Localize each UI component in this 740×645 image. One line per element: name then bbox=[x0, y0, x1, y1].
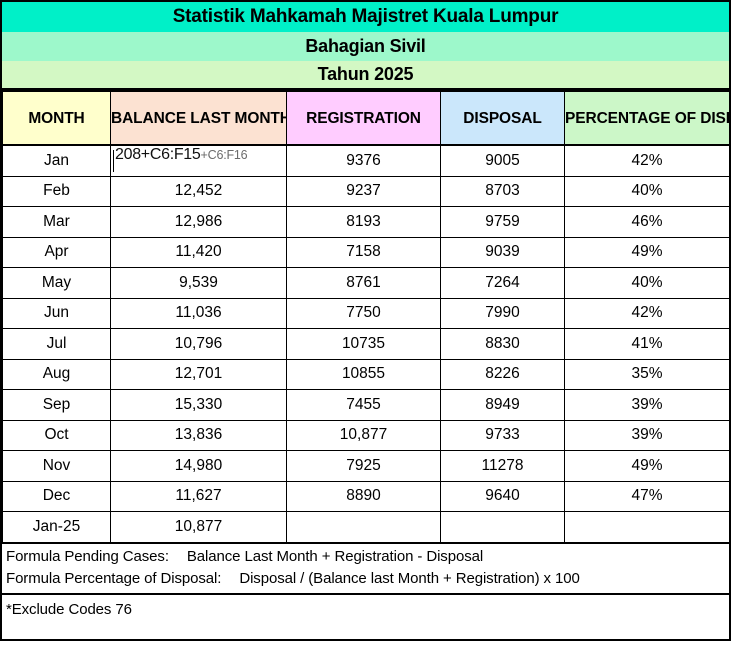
cell-disposal[interactable]: 7264 bbox=[441, 268, 565, 299]
cell-balance[interactable]: 11,420 bbox=[111, 237, 287, 268]
column-header-registration[interactable]: REGISTRATION bbox=[287, 91, 441, 145]
formula-committed-text: 208+C6:F15 bbox=[115, 146, 201, 164]
cell-percentage[interactable]: 39% bbox=[565, 420, 730, 451]
cell-month[interactable]: Feb bbox=[3, 176, 111, 207]
formula-notes-block: Formula Pending Cases:Balance Last Month… bbox=[2, 544, 729, 595]
table-body: Jan208+C6:F15+C6:F169376900542%Feb12,452… bbox=[3, 145, 730, 543]
table-row: Jul10,79610735883041% bbox=[3, 329, 730, 360]
cell-disposal[interactable]: 9640 bbox=[441, 481, 565, 512]
note-percentage-disposal-label: Formula Percentage of Disposal: bbox=[6, 570, 221, 587]
cell-month[interactable]: Oct bbox=[3, 420, 111, 451]
table-row: Feb12,4529237870340% bbox=[3, 176, 730, 207]
table-row: Jan-2510,877 bbox=[3, 512, 730, 543]
cell-balance[interactable]: 13,836 bbox=[111, 420, 287, 451]
cell-month[interactable]: Jun bbox=[3, 298, 111, 329]
table-row: Apr11,4207158903949% bbox=[3, 237, 730, 268]
column-header-disposal[interactable]: DISPOSAL bbox=[441, 91, 565, 145]
sheet-title-year: Tahun 2025 bbox=[2, 61, 729, 90]
column-header-balance[interactable]: BALANCE LAST MONTH bbox=[111, 91, 287, 145]
cell-percentage[interactable]: 46% bbox=[565, 207, 730, 238]
cell-disposal[interactable]: 9039 bbox=[441, 237, 565, 268]
formula-ghost-text: +C6:F16 bbox=[201, 148, 248, 162]
cell-percentage[interactable]: 42% bbox=[565, 145, 730, 176]
cell-registration[interactable]: 8890 bbox=[287, 481, 441, 512]
cell-disposal[interactable]: 11278 bbox=[441, 451, 565, 482]
exclude-note-block: *Exclude Codes 76 bbox=[2, 595, 729, 626]
cell-month[interactable]: May bbox=[3, 268, 111, 299]
table-row: Jun11,0367750799042% bbox=[3, 298, 730, 329]
cell-month[interactable]: Jan-25 bbox=[3, 512, 111, 543]
sheet-title-division: Bahagian Sivil bbox=[2, 32, 729, 61]
cell-disposal[interactable]: 9733 bbox=[441, 420, 565, 451]
cell-percentage[interactable]: 47% bbox=[565, 481, 730, 512]
cell-balance[interactable]: 12,701 bbox=[111, 359, 287, 390]
cell-percentage[interactable]: 40% bbox=[565, 268, 730, 299]
cell-percentage[interactable]: 42% bbox=[565, 298, 730, 329]
table-row: May9,5398761726440% bbox=[3, 268, 730, 299]
cell-percentage[interactable]: 40% bbox=[565, 176, 730, 207]
cell-balance[interactable]: 12,452 bbox=[111, 176, 287, 207]
cell-registration[interactable]: 8193 bbox=[287, 207, 441, 238]
text-caret bbox=[113, 150, 114, 172]
cell-balance[interactable]: 9,539 bbox=[111, 268, 287, 299]
table-header-row: MONTH BALANCE LAST MONTH REGISTRATION DI… bbox=[3, 91, 730, 145]
note-percentage-disposal: Formula Percentage of Disposal:Disposal … bbox=[6, 568, 729, 590]
cell-registration[interactable]: 7158 bbox=[287, 237, 441, 268]
cell-month[interactable]: Aug bbox=[3, 359, 111, 390]
table-row: Dec11,6278890964047% bbox=[3, 481, 730, 512]
cell-balance[interactable]: 11,627 bbox=[111, 481, 287, 512]
table-row: Sep15,3307455894939% bbox=[3, 390, 730, 421]
note-percentage-disposal-value: Disposal / (Balance last Month + Registr… bbox=[239, 570, 579, 587]
cell-registration[interactable]: 10735 bbox=[287, 329, 441, 360]
cell-month[interactable]: Sep bbox=[3, 390, 111, 421]
cell-month[interactable]: Jul bbox=[3, 329, 111, 360]
cell-balance[interactable]: 10,877 bbox=[111, 512, 287, 543]
cell-balance[interactable]: 11,036 bbox=[111, 298, 287, 329]
cell-disposal[interactable]: 7990 bbox=[441, 298, 565, 329]
cell-month[interactable]: Nov bbox=[3, 451, 111, 482]
cell-disposal[interactable] bbox=[441, 512, 565, 543]
cell-percentage[interactable]: 49% bbox=[565, 237, 730, 268]
cell-registration[interactable]: 8761 bbox=[287, 268, 441, 299]
cell-disposal[interactable]: 8226 bbox=[441, 359, 565, 390]
cell-registration[interactable]: 10855 bbox=[287, 359, 441, 390]
cell-registration[interactable]: 7925 bbox=[287, 451, 441, 482]
cell-month[interactable]: Apr bbox=[3, 237, 111, 268]
note-pending-cases-value: Balance Last Month + Registration - Disp… bbox=[187, 548, 483, 565]
note-exclude-codes: *Exclude Codes 76 bbox=[6, 599, 729, 621]
cell-disposal[interactable]: 8703 bbox=[441, 176, 565, 207]
table-row: Jan208+C6:F15+C6:F169376900542% bbox=[3, 145, 730, 176]
column-header-month[interactable]: MONTH bbox=[3, 91, 111, 145]
column-header-percentage[interactable]: PERCENTAGE OF DISPOSAL (%) bbox=[565, 91, 730, 145]
cell-percentage[interactable] bbox=[565, 512, 730, 543]
cell-percentage[interactable]: 41% bbox=[565, 329, 730, 360]
cell-registration[interactable] bbox=[287, 512, 441, 543]
note-pending-cases: Formula Pending Cases:Balance Last Month… bbox=[6, 546, 729, 568]
table-row: Mar12,9868193975946% bbox=[3, 207, 730, 238]
cell-disposal[interactable]: 9759 bbox=[441, 207, 565, 238]
cell-balance[interactable]: 15,330 bbox=[111, 390, 287, 421]
cell-percentage[interactable]: 39% bbox=[565, 390, 730, 421]
note-pending-cases-label: Formula Pending Cases: bbox=[6, 548, 169, 565]
cell-balance-editing[interactable]: 208+C6:F15+C6:F16 bbox=[111, 145, 287, 176]
cell-percentage[interactable]: 35% bbox=[565, 359, 730, 390]
cell-month[interactable]: Jan bbox=[3, 145, 111, 176]
cell-disposal[interactable]: 8949 bbox=[441, 390, 565, 421]
cell-balance[interactable]: 10,796 bbox=[111, 329, 287, 360]
statistics-sheet: Statistik Mahkamah Majistret Kuala Lumpu… bbox=[0, 0, 731, 641]
cell-registration[interactable]: 7455 bbox=[287, 390, 441, 421]
cell-disposal[interactable]: 8830 bbox=[441, 329, 565, 360]
cell-balance[interactable]: 14,980 bbox=[111, 451, 287, 482]
cell-month[interactable]: Dec bbox=[3, 481, 111, 512]
table-row: Aug12,70110855822635% bbox=[3, 359, 730, 390]
cell-registration[interactable]: 7750 bbox=[287, 298, 441, 329]
cell-registration[interactable]: 9237 bbox=[287, 176, 441, 207]
table-row: Oct13,83610,877973339% bbox=[3, 420, 730, 451]
cell-registration[interactable]: 10,877 bbox=[287, 420, 441, 451]
cell-registration[interactable]: 9376 bbox=[287, 145, 441, 176]
cell-disposal[interactable]: 9005 bbox=[441, 145, 565, 176]
cell-month[interactable]: Mar bbox=[3, 207, 111, 238]
table-row: Nov14,98079251127849% bbox=[3, 451, 730, 482]
sheet-title-primary: Statistik Mahkamah Majistret Kuala Lumpu… bbox=[2, 2, 729, 32]
formula-edit-wrapper: 208+C6:F15+C6:F16 bbox=[111, 146, 286, 176]
statistics-table: MONTH BALANCE LAST MONTH REGISTRATION DI… bbox=[2, 90, 730, 544]
cell-balance[interactable]: 12,986 bbox=[111, 207, 287, 238]
cell-percentage[interactable]: 49% bbox=[565, 451, 730, 482]
